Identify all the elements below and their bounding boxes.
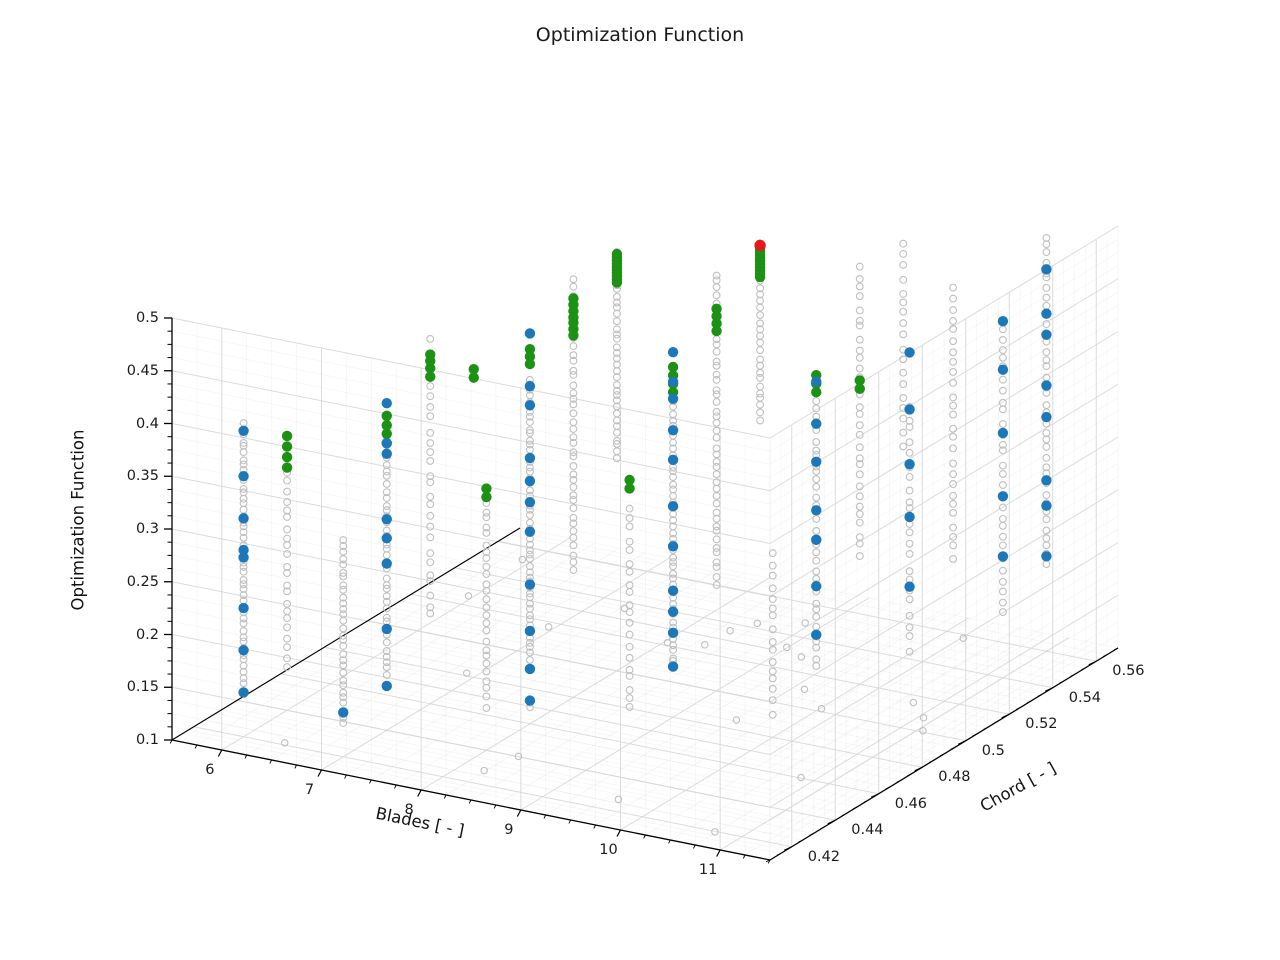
y-tick-label: 0.46	[895, 796, 927, 812]
axis-panes	[172, 226, 1118, 860]
z-axis-label: Optimization Function	[69, 430, 88, 611]
y-tick-label: 0.48	[938, 769, 970, 785]
z-tick-label: 0.45	[127, 363, 159, 379]
z-tick-label: 0.5	[136, 310, 159, 326]
chart-root: Optimization Function Optimization Funct…	[0, 0, 1280, 960]
z-tick-label: 0.2	[136, 627, 159, 643]
z-tick-label: 0.35	[127, 468, 159, 484]
y-tick-label: 0.56	[1112, 663, 1144, 679]
z-tick-label: 0.15	[127, 679, 159, 695]
z-tick-label: 0.1	[136, 732, 159, 748]
x-tick-label: 11	[699, 862, 717, 878]
y-tick-label: 0.5	[982, 743, 1005, 759]
y-tick-label: 0.54	[1069, 690, 1101, 706]
x-tick-label: 8	[405, 802, 414, 818]
y-tick-label: 0.42	[808, 849, 840, 865]
z-tick-label: 0.3	[136, 521, 159, 537]
scatter3d-canvas	[0, 0, 1280, 960]
x-tick-label: 7	[305, 782, 314, 798]
y-tick-label: 0.52	[1025, 716, 1057, 732]
x-tick-label: 9	[504, 822, 513, 838]
x-tick-label: 6	[205, 762, 214, 778]
y-tick-label: 0.44	[851, 822, 883, 838]
z-tick-label: 0.25	[127, 574, 159, 590]
z-tick-label: 0.4	[136, 416, 159, 432]
x-tick-label: 10	[599, 842, 617, 858]
